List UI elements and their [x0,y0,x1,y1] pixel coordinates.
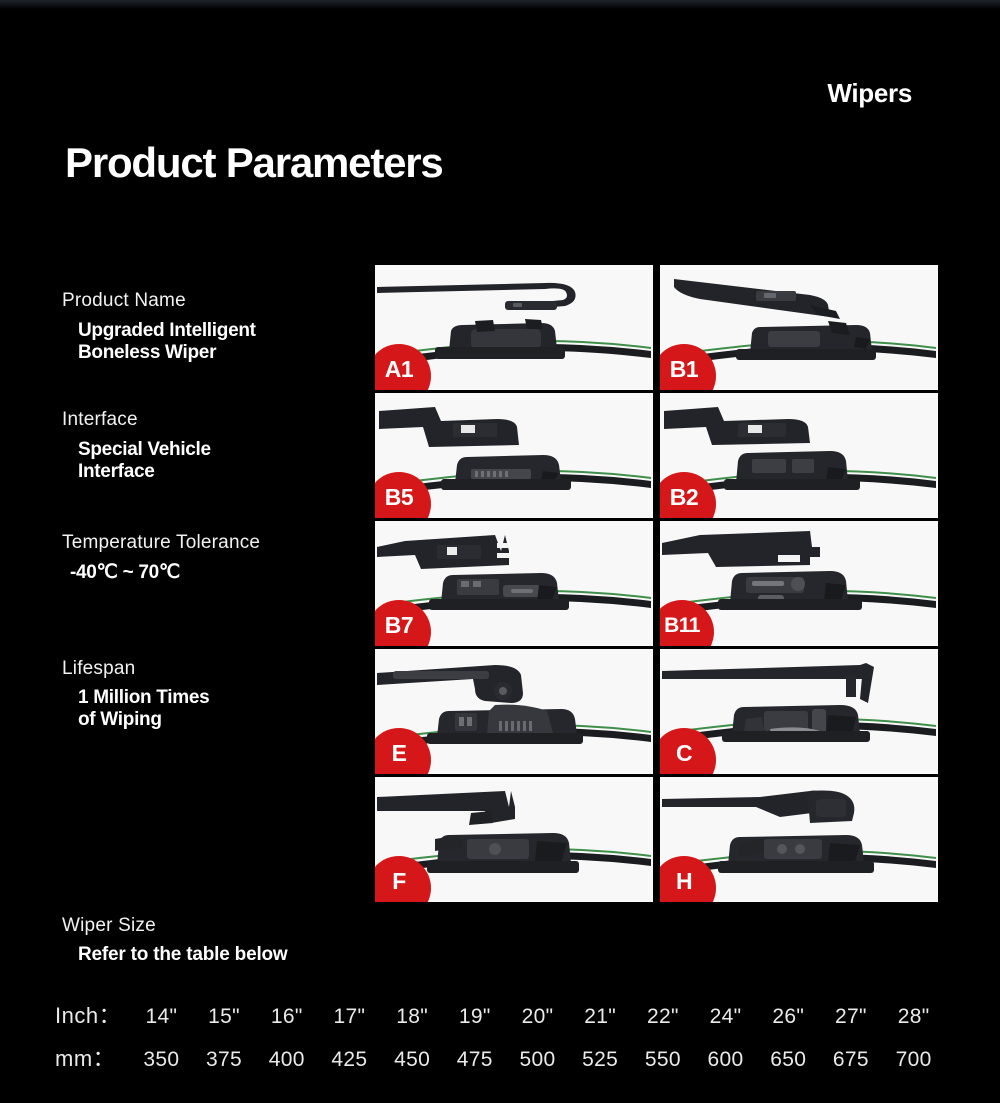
size-table-row-mm: mm： 350 375 400 425 450 475 500 525 550 … [55,1041,945,1084]
table-cell: 20" [506,1005,569,1029]
spec-item-interface: Interface Special Vehicle Interface [62,409,372,482]
table-cell: 19" [443,1005,506,1029]
spec-label: Lifespan [62,658,372,681]
spec-item-product-name: Product Name Upgraded Intelligent Bonele… [62,290,372,363]
top-gradient-strip [0,0,1000,9]
brand-title: Wipers [827,78,912,109]
table-cell: 24" [694,1005,757,1029]
spec-value: Special Vehicle Interface [62,439,372,483]
table-cell: 15" [193,1005,256,1029]
adapter-badge-label: E [392,742,407,765]
page-title: Product Parameters [65,139,443,187]
table-cell: 475 [443,1048,506,1072]
spec-item-temperature-tolerance: Temperature Tolerance -40℃ ~ 70℃ [62,532,372,584]
adapter-cell-b7[interactable]: B7 [375,521,653,646]
adapter-cell-e[interactable]: E [375,649,653,774]
table-cell: 700 [882,1048,945,1072]
adapter-photo-grid: A1 B1 [375,265,938,902]
spec-list: Product Name Upgraded Intelligent Bonele… [62,290,372,731]
adapter-cell-b11[interactable]: B11 [660,521,938,646]
size-table-row-inch: Inch： 14" 15" 16" 17" 18" 19" 20" 21" 22… [55,998,945,1041]
adapter-cell-b1[interactable]: B1 [660,265,938,390]
adapter-badge-label: H [676,870,692,893]
adapter-cell-b5[interactable]: B5 [375,393,653,518]
table-cell: 16" [255,1005,318,1029]
spec-label: Temperature Tolerance [62,532,372,555]
adapter-badge-label: F [392,870,406,893]
adapter-badge-label: C [676,742,692,765]
adapter-badge-label: B5 [385,486,413,509]
adapter-cell-f[interactable]: F [375,777,653,902]
adapter-badge-label: B7 [385,614,413,637]
table-cell: 525 [569,1048,632,1072]
table-cell: 550 [632,1048,695,1072]
adapter-cell-c[interactable]: C [660,649,938,774]
size-table-row-key: mm： [55,1041,130,1073]
size-table: Inch： 14" 15" 16" 17" 18" 19" 20" 21" 22… [55,998,945,1084]
spec-value: 1 Million Times of Wiping [62,687,372,731]
table-cell: 26" [757,1005,820,1029]
table-cell: 500 [506,1048,569,1072]
spec-label: Wiper Size [62,915,288,937]
spec-value: Upgraded Intelligent Boneless Wiper [62,320,372,364]
table-cell: 18" [381,1005,444,1029]
table-cell: 400 [255,1048,318,1072]
table-cell: 28" [882,1005,945,1029]
spec-value: Refer to the table below [62,944,288,966]
wiper-size-spec: Wiper Size Refer to the table below [62,915,288,966]
table-cell: 425 [318,1048,381,1072]
table-cell: 350 [130,1048,193,1072]
spec-item-lifespan: Lifespan 1 Million Times of Wiping [62,658,372,731]
spec-label: Interface [62,409,372,432]
table-cell: 650 [757,1048,820,1072]
table-cell: 21" [569,1005,632,1029]
table-cell: 14" [130,1005,193,1029]
size-table-row-key: Inch： [55,998,130,1030]
spec-label: Product Name [62,290,372,313]
adapter-badge-label: A1 [385,358,413,381]
table-cell: 17" [318,1005,381,1029]
adapter-badge-label: B1 [670,358,698,381]
adapter-cell-h[interactable]: H [660,777,938,902]
table-cell: 675 [820,1048,883,1072]
table-cell: 450 [381,1048,444,1072]
adapter-badge-label: B2 [670,486,698,509]
adapter-badge-label: B11 [664,615,700,636]
adapter-cell-a1[interactable]: A1 [375,265,653,390]
table-cell: 375 [193,1048,256,1072]
adapter-cell-b2[interactable]: B2 [660,393,938,518]
spec-value: -40℃ ~ 70℃ [62,562,372,584]
table-cell: 27" [820,1005,883,1029]
table-cell: 22" [632,1005,695,1029]
table-cell: 600 [694,1048,757,1072]
